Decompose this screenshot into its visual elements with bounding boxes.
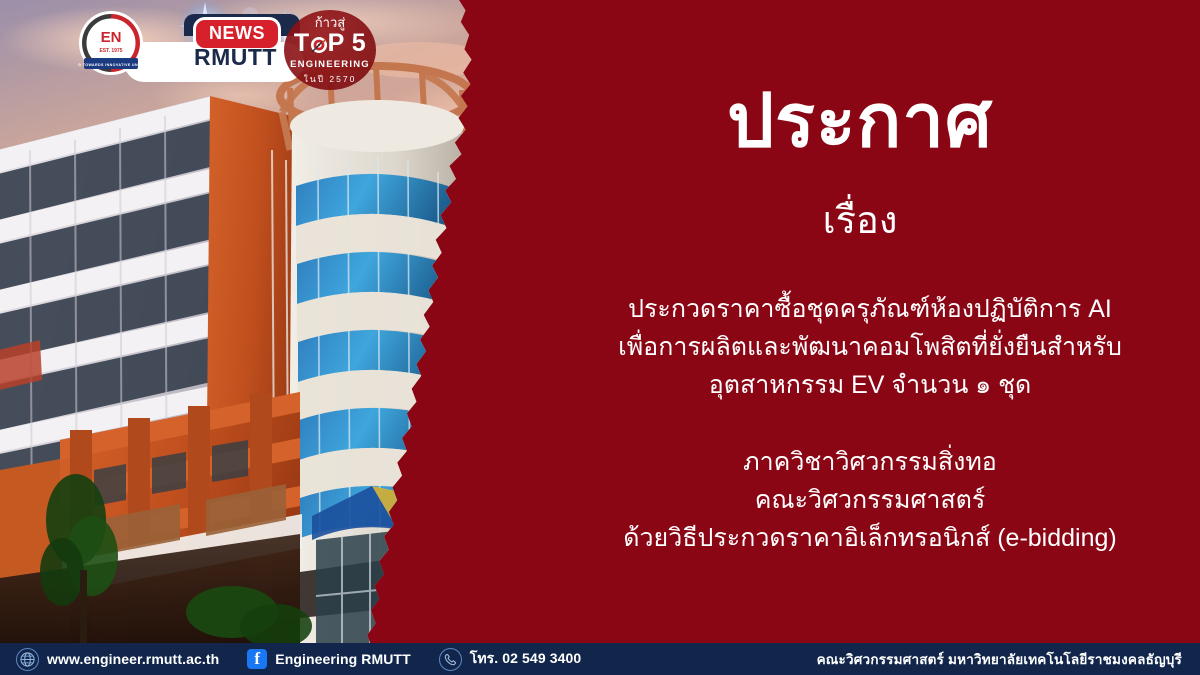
organization-name: คณะวิศวกรรมศาสตร์ มหาวิทยาลัยเทคโนโลยีรา…: [817, 643, 1182, 675]
svg-text:EST. 1975: EST. 1975: [99, 48, 122, 54]
announcement-body: ประกวดราคาซื้อชุดครุภัณฑ์ห้องปฏิบัติการ …: [560, 290, 1180, 404]
phone-icon: [439, 648, 462, 671]
website-url[interactable]: www.engineer.rmutt.ac.th: [47, 651, 219, 667]
facebook-page-name[interactable]: Engineering RMUTT: [275, 651, 410, 667]
globe-icon: [16, 648, 39, 671]
footer-contact-group: www.engineer.rmutt.ac.th f Engineering R…: [0, 648, 581, 671]
page-title: ประกาศ: [520, 84, 1200, 158]
en-gear-logo-icon: EN EST. 1975 MOVING TOWARDS INNOVATIVE U…: [78, 10, 144, 76]
department-line: ด้วยวิธีประกวดราคาอิเล็กทรอนิกส์ (e-bidd…: [560, 519, 1180, 557]
globe-glyph: [20, 652, 35, 667]
footer-bar: www.engineer.rmutt.ac.th f Engineering R…: [0, 643, 1200, 675]
phone-number: โทร. 02 549 3400: [470, 648, 582, 670]
body-line: อุตสาหกรรม EV จำนวน ๑ ชุด: [560, 366, 1180, 404]
facebook-icon[interactable]: f: [247, 649, 267, 669]
body-line: เพื่อการผลิตและพัฒนาคอมโพสิตที่ยั่งยืนสำ…: [560, 328, 1180, 366]
top5-line4: ในปี 2570: [284, 72, 376, 86]
top5-line2: T P 5: [284, 31, 376, 56]
target-icon: [310, 36, 328, 54]
announcement-poster: EN EST. 1975 MOVING TOWARDS INNOVATIVE U…: [0, 0, 1200, 675]
department-block: ภาควิชาวิศวกรรมสิ่งทอ คณะวิศวกรรมศาสตร์ …: [560, 443, 1180, 557]
rmutt-engineering-building-photo: [0, 0, 600, 648]
department-line: คณะวิศวกรรมศาสตร์: [560, 481, 1180, 519]
phone-glyph: [444, 653, 457, 666]
announcement-text-panel: ประกาศ เรื่อง ประกวดราคาซื้อชุดครุภัณฑ์ห…: [520, 0, 1200, 648]
rmutt-wordmark: RMUTT: [194, 44, 277, 71]
building-photo-panel: [0, 0, 600, 648]
body-line: ประกวดราคาซื้อชุดครุภัณฑ์ห้องปฏิบัติการ …: [560, 290, 1180, 328]
logo-row: EN EST. 1975 MOVING TOWARDS INNOVATIVE U…: [66, 4, 386, 88]
department-line: ภาควิชาวิศวกรรมสิ่งทอ: [560, 443, 1180, 481]
top5-line1: ก้าวสู่: [284, 16, 376, 30]
subject-label: เรื่อง: [520, 202, 1200, 240]
top5-engineering-badge: ก้าวสู่ T P 5 ENGINEERING ในปี 2570: [284, 10, 376, 90]
svg-text:EN: EN: [101, 29, 122, 46]
top5-line3: ENGINEERING: [284, 59, 376, 70]
svg-text:MOVING TOWARDS INNOVATIVE UNIV: MOVING TOWARDS INNOVATIVE UNIVERSITY: [78, 63, 144, 67]
